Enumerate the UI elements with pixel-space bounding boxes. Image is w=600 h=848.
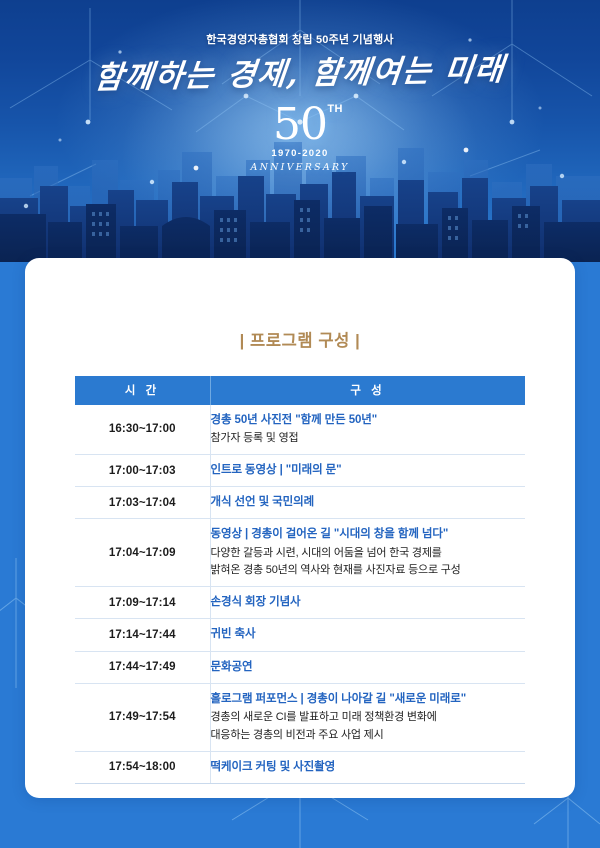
program-item-title: 귀빈 축사: [211, 626, 526, 643]
program-item-description: 다양한 갈등과 시련, 시대의 어둠을 넘어 한국 경제를: [211, 545, 526, 562]
program-item-title: 문화공연: [211, 659, 526, 676]
program-item-title: 경총 50년 사진전 "함께 만든 50년": [211, 412, 526, 429]
cell-time: 17:04~17:09: [75, 519, 210, 587]
cell-time: 17:44~17:49: [75, 651, 210, 683]
table-row: 17:00~17:03인트로 동영상 | "미래의 문": [75, 454, 525, 486]
column-header-time: 시 간: [75, 376, 210, 405]
table-row: 17:44~17:49문화공연: [75, 651, 525, 683]
cell-time: 16:30~17:00: [75, 405, 210, 454]
program-table-wrapper: 시 간 구 성 16:30~17:00경총 50년 사진전 "함께 만든 50년…: [75, 376, 525, 784]
cell-program: 손경식 회장 기념사: [210, 587, 525, 619]
event-poster: 한국경영자총협회 창립 50주년 기념행사 함께하는 경제, 함께여는 미래 5…: [0, 0, 600, 848]
program-item-description: 대응하는 경총의 비전과 주요 사업 제시: [211, 727, 526, 744]
column-header-program: 구 성: [210, 376, 525, 405]
program-item-title: 손경식 회장 기념사: [211, 594, 526, 611]
program-item-title: 인트로 동영상 | "미래의 문": [211, 462, 526, 479]
anniversary-emblem: 50TH 1970-2020 ANNIVERSARY: [0, 103, 600, 173]
emblem-anniversary-label: ANNIVERSARY: [0, 162, 600, 173]
page-title: | 프로그램 구성 |: [25, 327, 575, 351]
hero-banner: 한국경영자총협회 창립 50주년 기념행사 함께하는 경제, 함께여는 미래 5…: [0, 0, 600, 262]
table-row: 17:54~18:00떡케이크 커팅 및 사진촬영: [75, 751, 525, 783]
cell-time: 17:54~18:00: [75, 751, 210, 783]
table-header: 시 간 구 성: [75, 376, 525, 405]
cell-time: 17:49~17:54: [75, 683, 210, 751]
table-row: 17:03~17:04개식 선언 및 국민의례: [75, 487, 525, 519]
cell-program: 홀로그램 퍼포먼스 | 경총이 나아갈 길 "새로운 미래로"경총의 새로운 C…: [210, 683, 525, 751]
emblem-ordinal: TH: [327, 104, 343, 115]
table-row: 16:30~17:00경총 50년 사진전 "함께 만든 50년"참가자 등록 …: [75, 405, 525, 454]
program-item-title: 개식 선언 및 국민의례: [211, 494, 526, 511]
table-row: 17:14~17:44귀빈 축사: [75, 619, 525, 651]
table-row: 17:49~17:54홀로그램 퍼포먼스 | 경총이 나아갈 길 "새로운 미래…: [75, 683, 525, 751]
cell-program: 개식 선언 및 국민의례: [210, 487, 525, 519]
program-item-description: 참가자 등록 및 영접: [211, 430, 526, 447]
cell-program: 인트로 동영상 | "미래의 문": [210, 454, 525, 486]
cell-time: 17:03~17:04: [75, 487, 210, 519]
table-header-row: 시 간 구 성: [75, 376, 525, 405]
table-body: 16:30~17:00경총 50년 사진전 "함께 만든 50년"참가자 등록 …: [75, 405, 525, 783]
cell-program: 경총 50년 사진전 "함께 만든 50년"참가자 등록 및 영접: [210, 405, 525, 454]
cell-time: 17:09~17:14: [75, 587, 210, 619]
program-item-title: 동영상 | 경총이 걸어온 길 "시대의 창을 함께 넘다": [211, 526, 526, 543]
program-item-title: 홀로그램 퍼포먼스 | 경총이 나아갈 길 "새로운 미래로": [211, 691, 526, 708]
cell-program: 귀빈 축사: [210, 619, 525, 651]
emblem-number: 50TH: [273, 103, 327, 147]
program-item-description: 경총의 새로운 CI를 발표하고 미래 정책환경 변화에: [211, 709, 526, 726]
cell-time: 17:00~17:03: [75, 454, 210, 486]
cell-program: 동영상 | 경총이 걸어온 길 "시대의 창을 함께 넘다"다양한 갈등과 시련…: [210, 519, 525, 587]
program-item-title: 떡케이크 커팅 및 사진촬영: [211, 759, 526, 776]
table-row: 17:04~17:09동영상 | 경총이 걸어온 길 "시대의 창을 함께 넘다…: [75, 519, 525, 587]
cell-time: 17:14~17:44: [75, 619, 210, 651]
program-table: 시 간 구 성 16:30~17:00경총 50년 사진전 "함께 만든 50년…: [75, 376, 525, 784]
cell-program: 떡케이크 커팅 및 사진촬영: [210, 751, 525, 783]
program-card: | 프로그램 구성 | 시 간 구 성 16:30~17:00경총 50년 사진…: [25, 258, 575, 798]
program-item-description: 밝혀온 경총 50년의 역사와 현재를 사진자료 등으로 구성: [211, 562, 526, 579]
cell-program: 문화공연: [210, 651, 525, 683]
table-row: 17:09~17:14손경식 회장 기념사: [75, 587, 525, 619]
